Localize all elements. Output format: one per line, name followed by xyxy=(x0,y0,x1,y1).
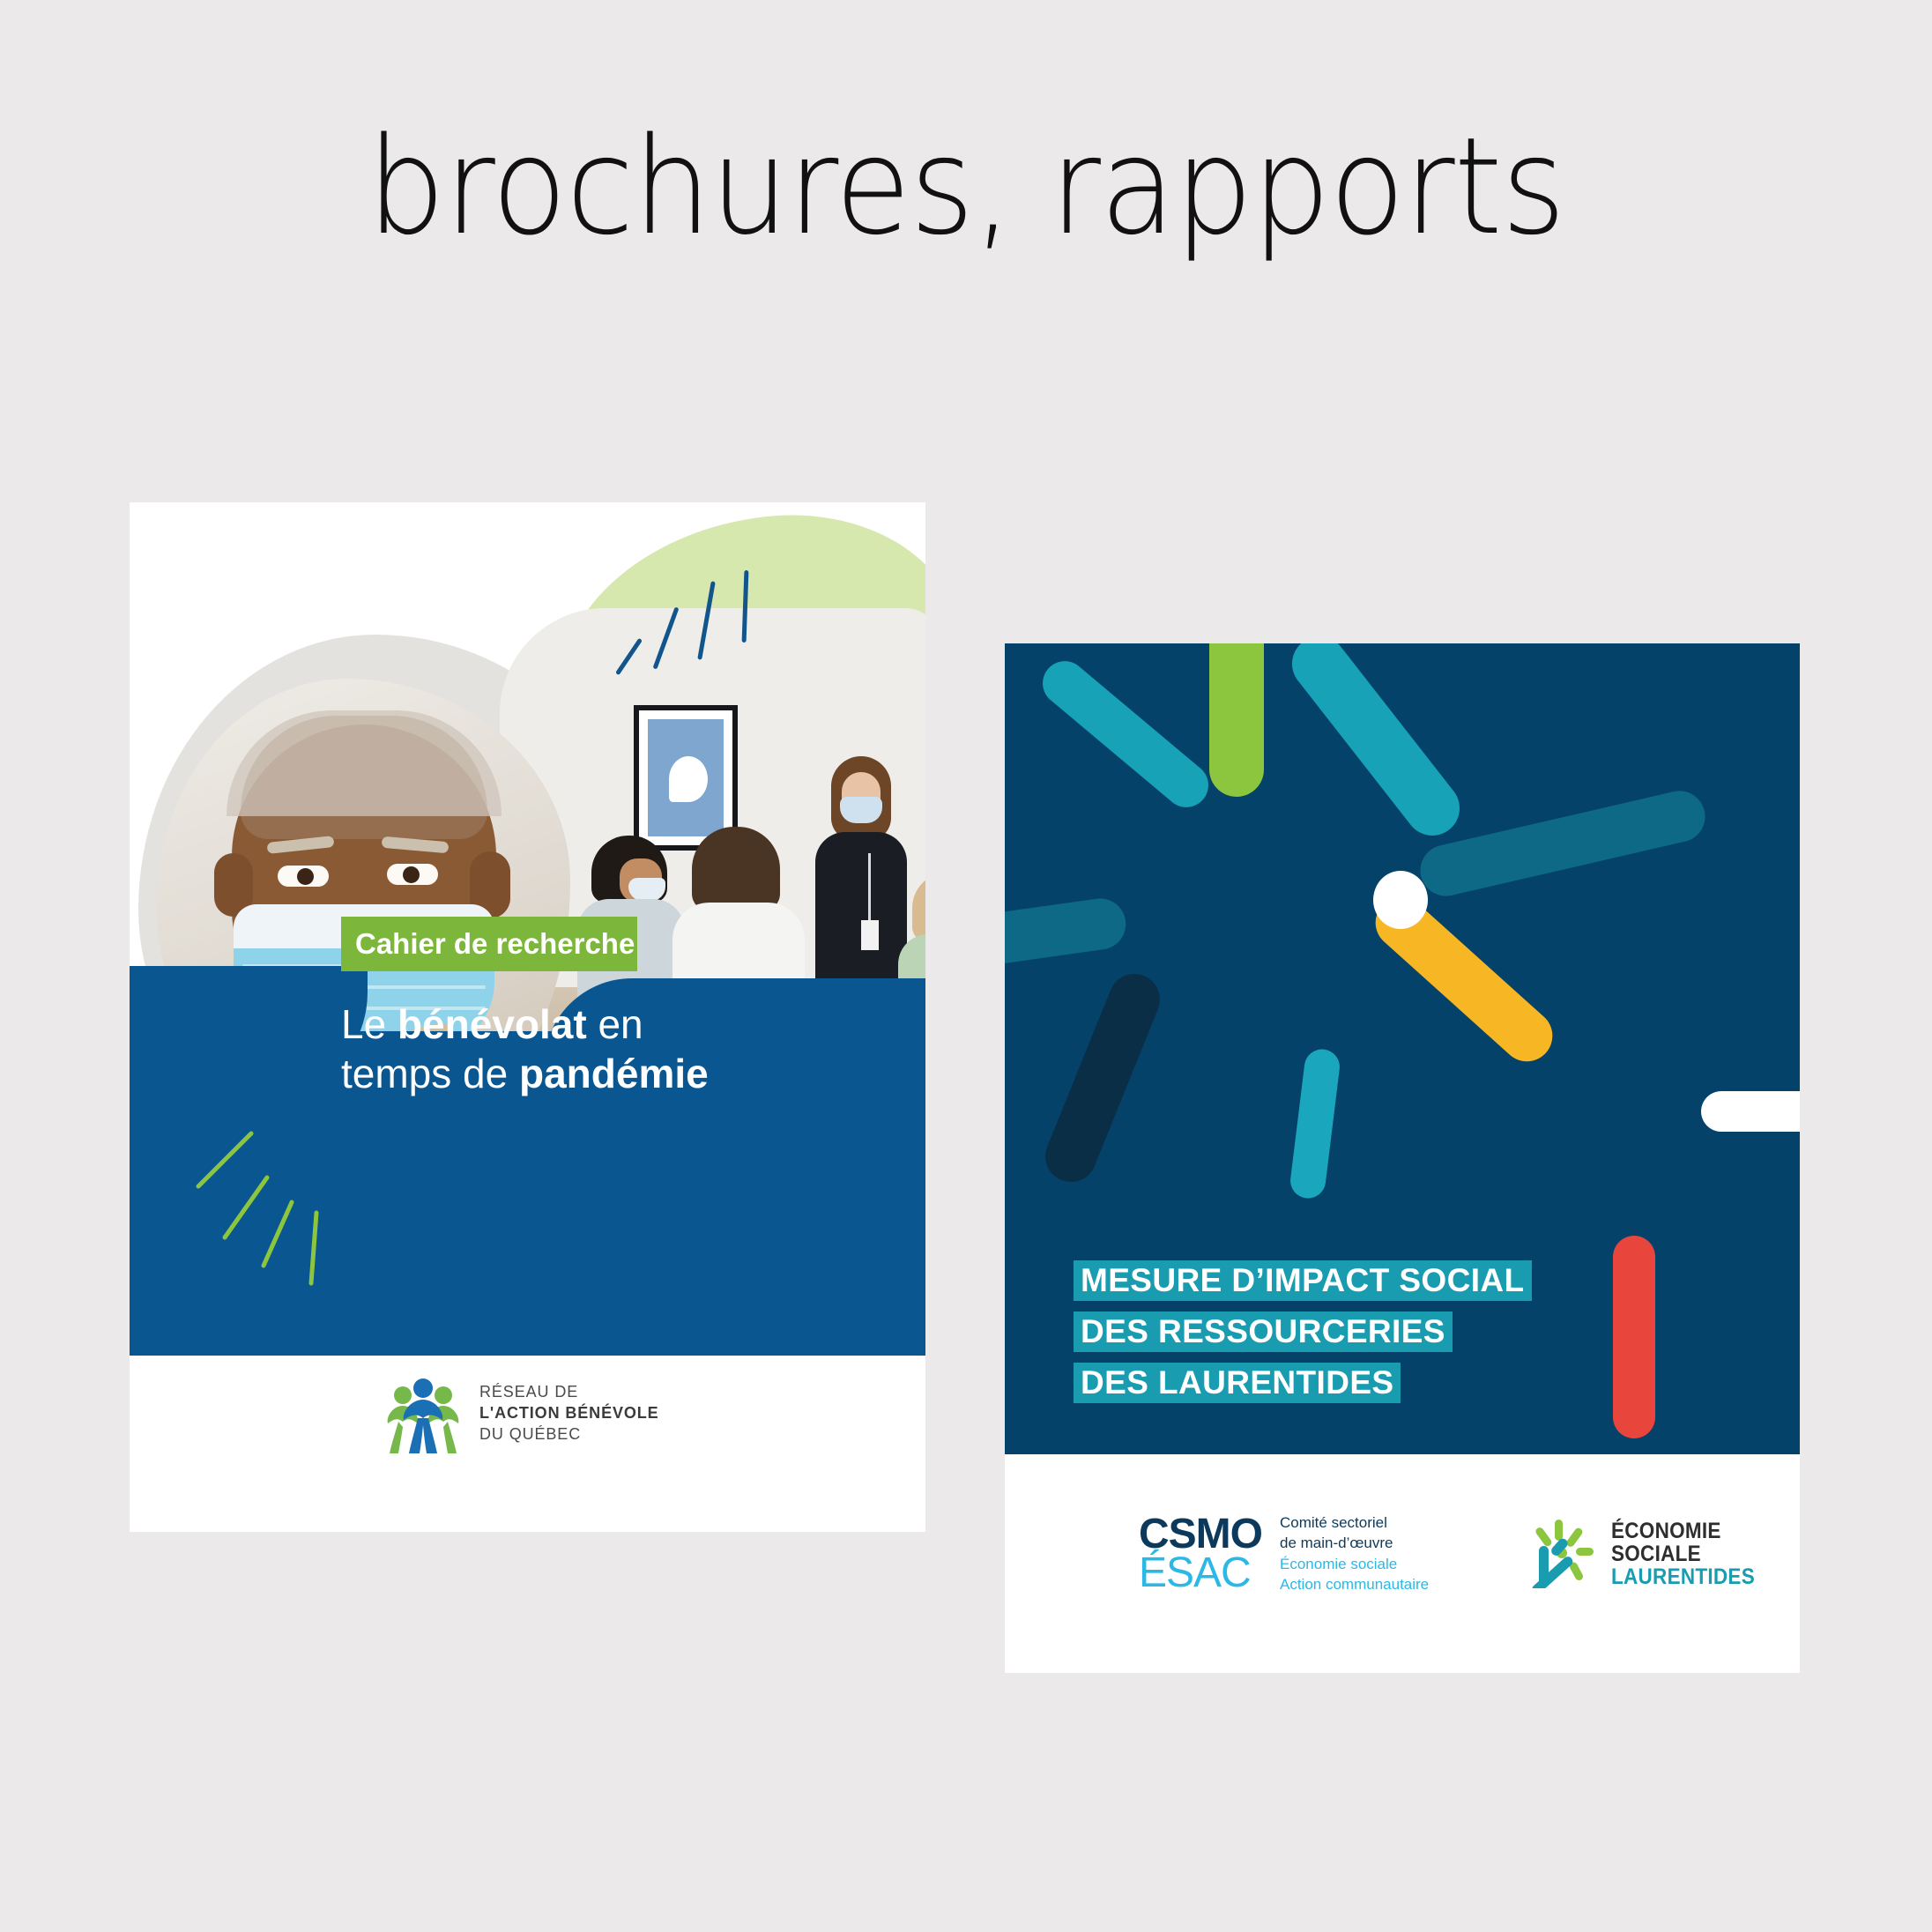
title-line-2: temps de pandémie xyxy=(341,1051,709,1096)
rabq-line-1: RÉSEAU DE xyxy=(479,1381,659,1402)
ray-teal-lower-center xyxy=(1289,1047,1341,1200)
brochure-title-benevolat: Le bénévolat en temps de pandémie xyxy=(341,999,755,1098)
rabq-logo-text: RÉSEAU DE L'ACTION BÉNÉVOLE DU QUÉBEC xyxy=(479,1381,659,1445)
page-root: brochures, rapports xyxy=(0,0,1932,1932)
cover-navy-panel: MESURE D’IMPACT SOCIAL DES RESSOURCERIES… xyxy=(1005,643,1800,1454)
esl-line-1: ÉCONOMIE SOCIALE xyxy=(1611,1520,1781,1565)
csmo-desc-line-2: de main-d’œuvre xyxy=(1280,1533,1429,1553)
ray-teal-upper-left xyxy=(1034,652,1217,816)
title-line-2: DES RESSOURCERIES xyxy=(1074,1312,1453,1352)
csmo-desc-line-4: Action communautaire xyxy=(1280,1574,1429,1594)
logo-csmo-esac: CSMO ÉSAC Comité sectoriel de main-d’œuv… xyxy=(1139,1512,1429,1595)
ray-teal-upper-right xyxy=(1281,643,1470,846)
ray-darkteal-left xyxy=(1005,895,1129,972)
badge-label: Cahier de recherche xyxy=(355,927,635,961)
title-line-3: DES LAURENTIDES xyxy=(1074,1363,1401,1403)
decorative-blue-rays xyxy=(623,551,808,683)
esl-line-2: LAURENTIDES xyxy=(1611,1565,1781,1588)
rabq-line-2: L'ACTION BÉNÉVOLE xyxy=(479,1402,659,1423)
esl-starburst-arrow-icon xyxy=(1525,1520,1595,1588)
logo-economie-sociale-laurentides: ÉCONOMIE SOCIALE LAURENTIDES xyxy=(1525,1520,1800,1588)
page-title: brochures, rapports xyxy=(78,113,1855,260)
csmo-wordmark: CSMO ÉSAC xyxy=(1139,1515,1262,1593)
badge-cahier-de-recherche: Cahier de recherche xyxy=(341,917,637,971)
csmo-desc-line-3: Économie sociale xyxy=(1280,1554,1429,1574)
ray-white-right xyxy=(1701,1091,1800,1132)
csmo-description: Comité sectoriel de main-d’œuvre Économi… xyxy=(1280,1512,1429,1595)
ray-green-top xyxy=(1209,643,1264,797)
rabq-people-icon xyxy=(386,1372,460,1453)
decorative-green-rays xyxy=(182,1118,412,1320)
center-white-dot xyxy=(1373,871,1428,929)
csmo-word-top: CSMO xyxy=(1139,1515,1262,1554)
esl-wordmark: ÉCONOMIE SOCIALE LAURENTIDES xyxy=(1611,1520,1800,1588)
brochure-card-mesure-impact-social[interactable]: MESURE D’IMPACT SOCIAL DES RESSOURCERIES… xyxy=(1005,643,1800,1673)
csmo-word-bottom: ÉSAC xyxy=(1139,1554,1262,1593)
brochure-title-mesure-impact: MESURE D’IMPACT SOCIAL DES RESSOURCERIES… xyxy=(1074,1260,1743,1414)
rabq-line-3: DU QUÉBEC xyxy=(479,1423,659,1445)
logo-reseau-action-benevole-quebec: RÉSEAU DE L'ACTION BÉNÉVOLE DU QUÉBEC xyxy=(386,1364,703,1461)
csmo-desc-line-1: Comité sectoriel xyxy=(1280,1512,1429,1533)
ray-darknavy-lower-left xyxy=(1037,966,1167,1190)
title-line-1: Le bénévolat en xyxy=(341,1001,643,1047)
title-line-1: MESURE D’IMPACT SOCIAL xyxy=(1074,1260,1532,1301)
